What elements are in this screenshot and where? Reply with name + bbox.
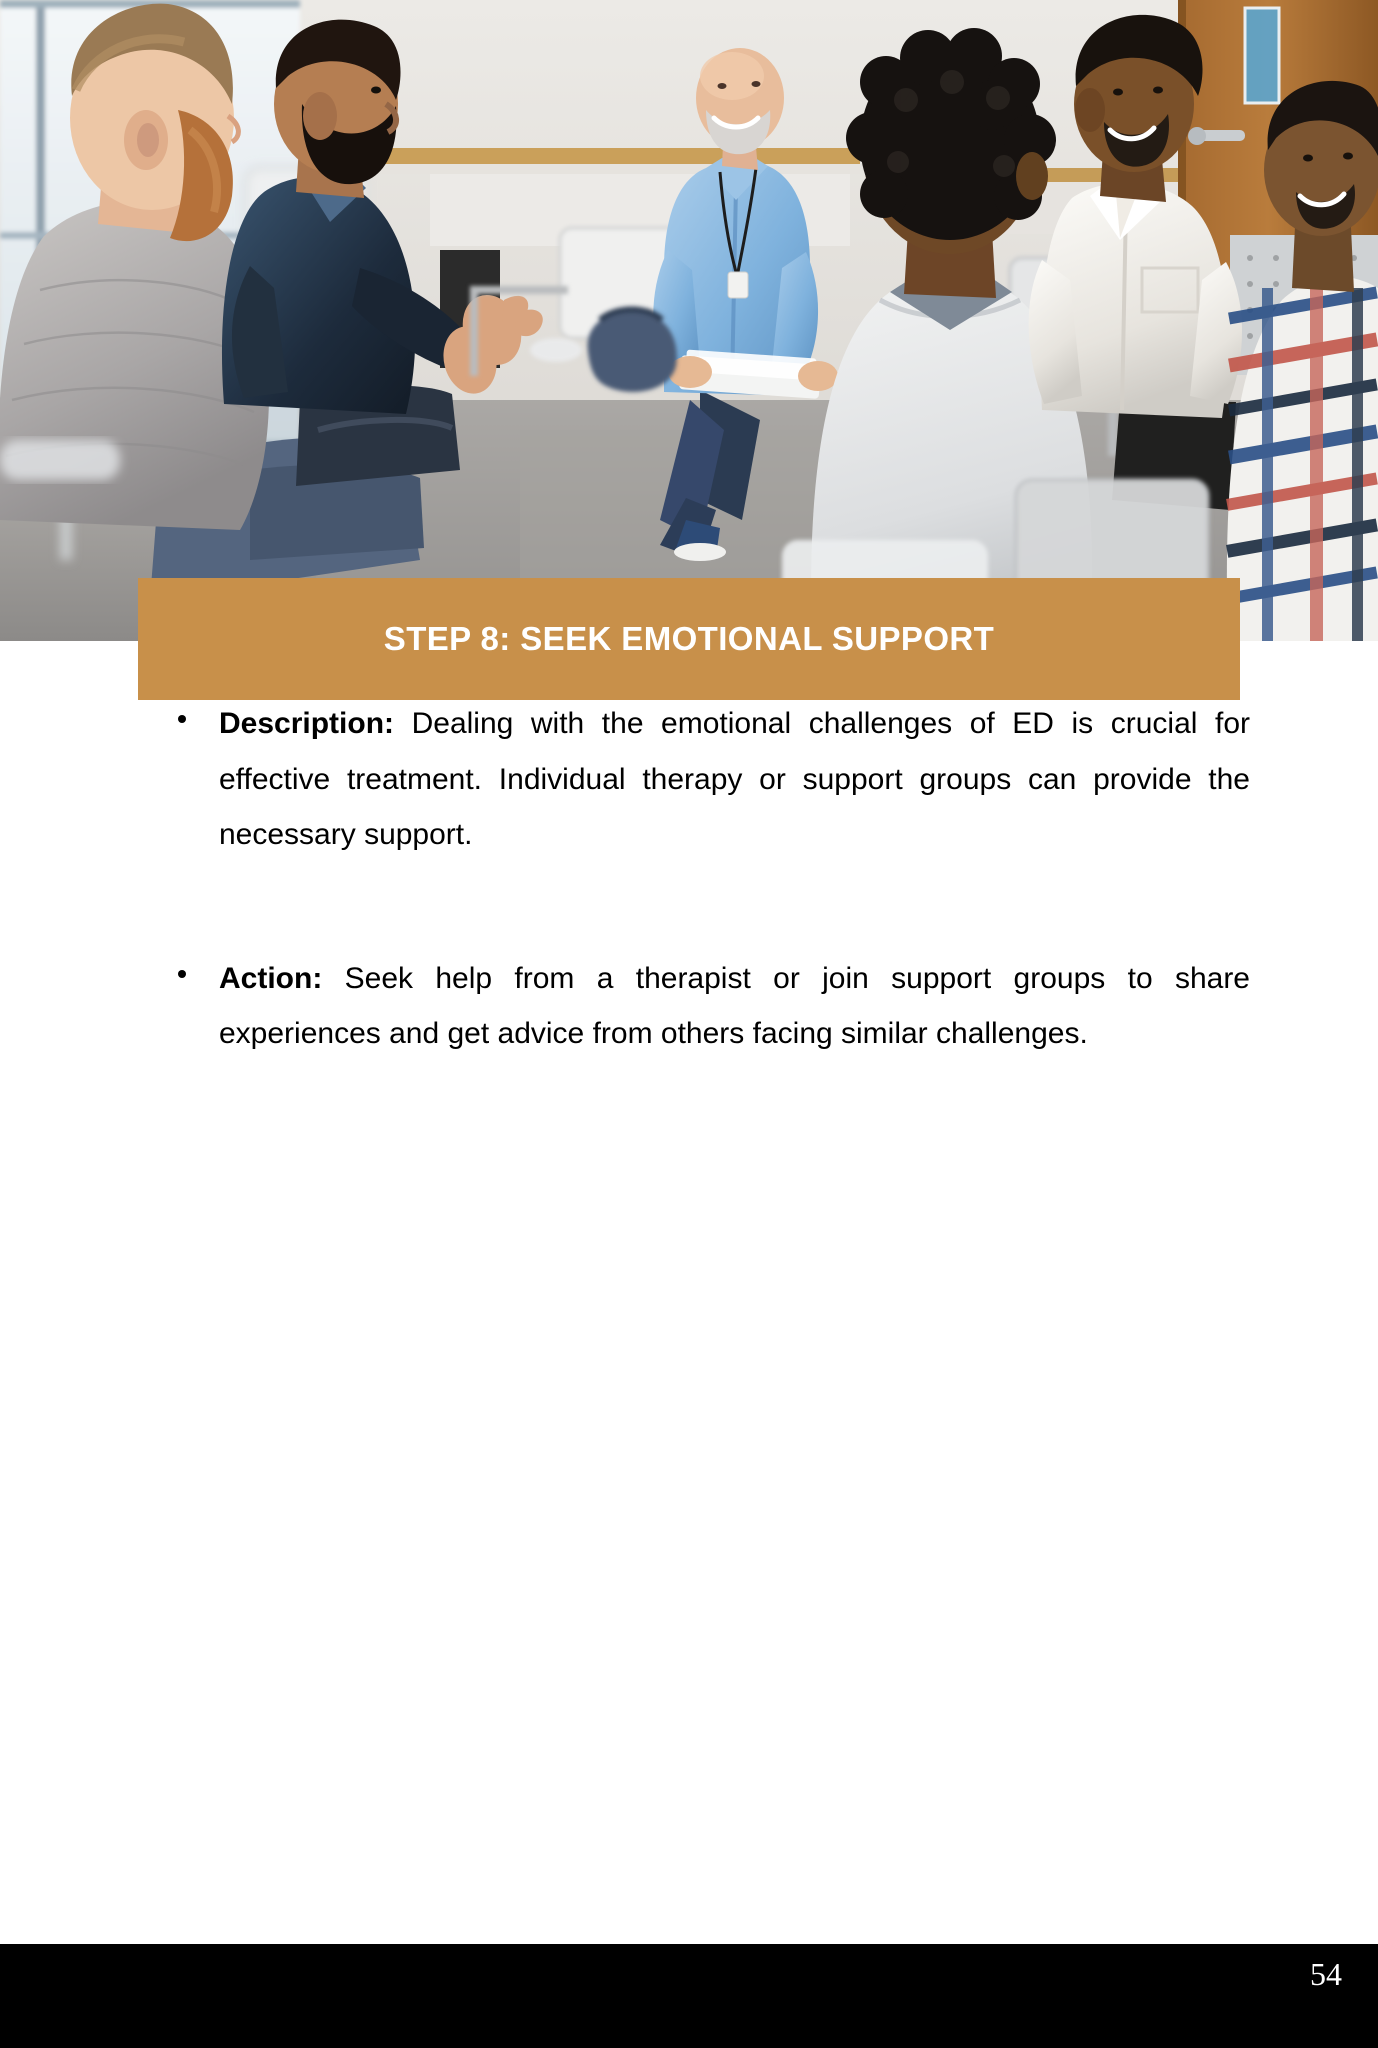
support-group-photo — [0, 0, 1378, 641]
bullet-dot-icon — [178, 715, 186, 723]
bullet-text: Action: Seek help from a therapist or jo… — [219, 951, 1250, 1062]
bullet-spacer — [0, 863, 1378, 951]
footer-bar: 54 — [0, 1944, 1378, 2048]
header-photo — [0, 0, 1378, 641]
list-item: Action: Seek help from a therapist or jo… — [0, 951, 1378, 1062]
bullet-body: Seek help from a therapist or join suppo… — [219, 962, 1250, 1051]
bullet-text: Description: Dealing with the emotional … — [219, 696, 1250, 863]
bullet-lead: Action: — [219, 962, 322, 995]
page-number: 54 — [1310, 1958, 1342, 1990]
bullet-lead: Description: — [219, 707, 394, 740]
step-title-banner: STEP 8: SEEK EMOTIONAL SUPPORT — [138, 578, 1240, 700]
slide-body: Description: Dealing with the emotional … — [0, 700, 1378, 1944]
bullet-dot-icon — [178, 970, 186, 978]
bullet-list: Description: Dealing with the emotional … — [0, 696, 1378, 1062]
list-item: Description: Dealing with the emotional … — [0, 696, 1378, 863]
page-title: STEP 8: SEEK EMOTIONAL SUPPORT — [384, 621, 994, 657]
